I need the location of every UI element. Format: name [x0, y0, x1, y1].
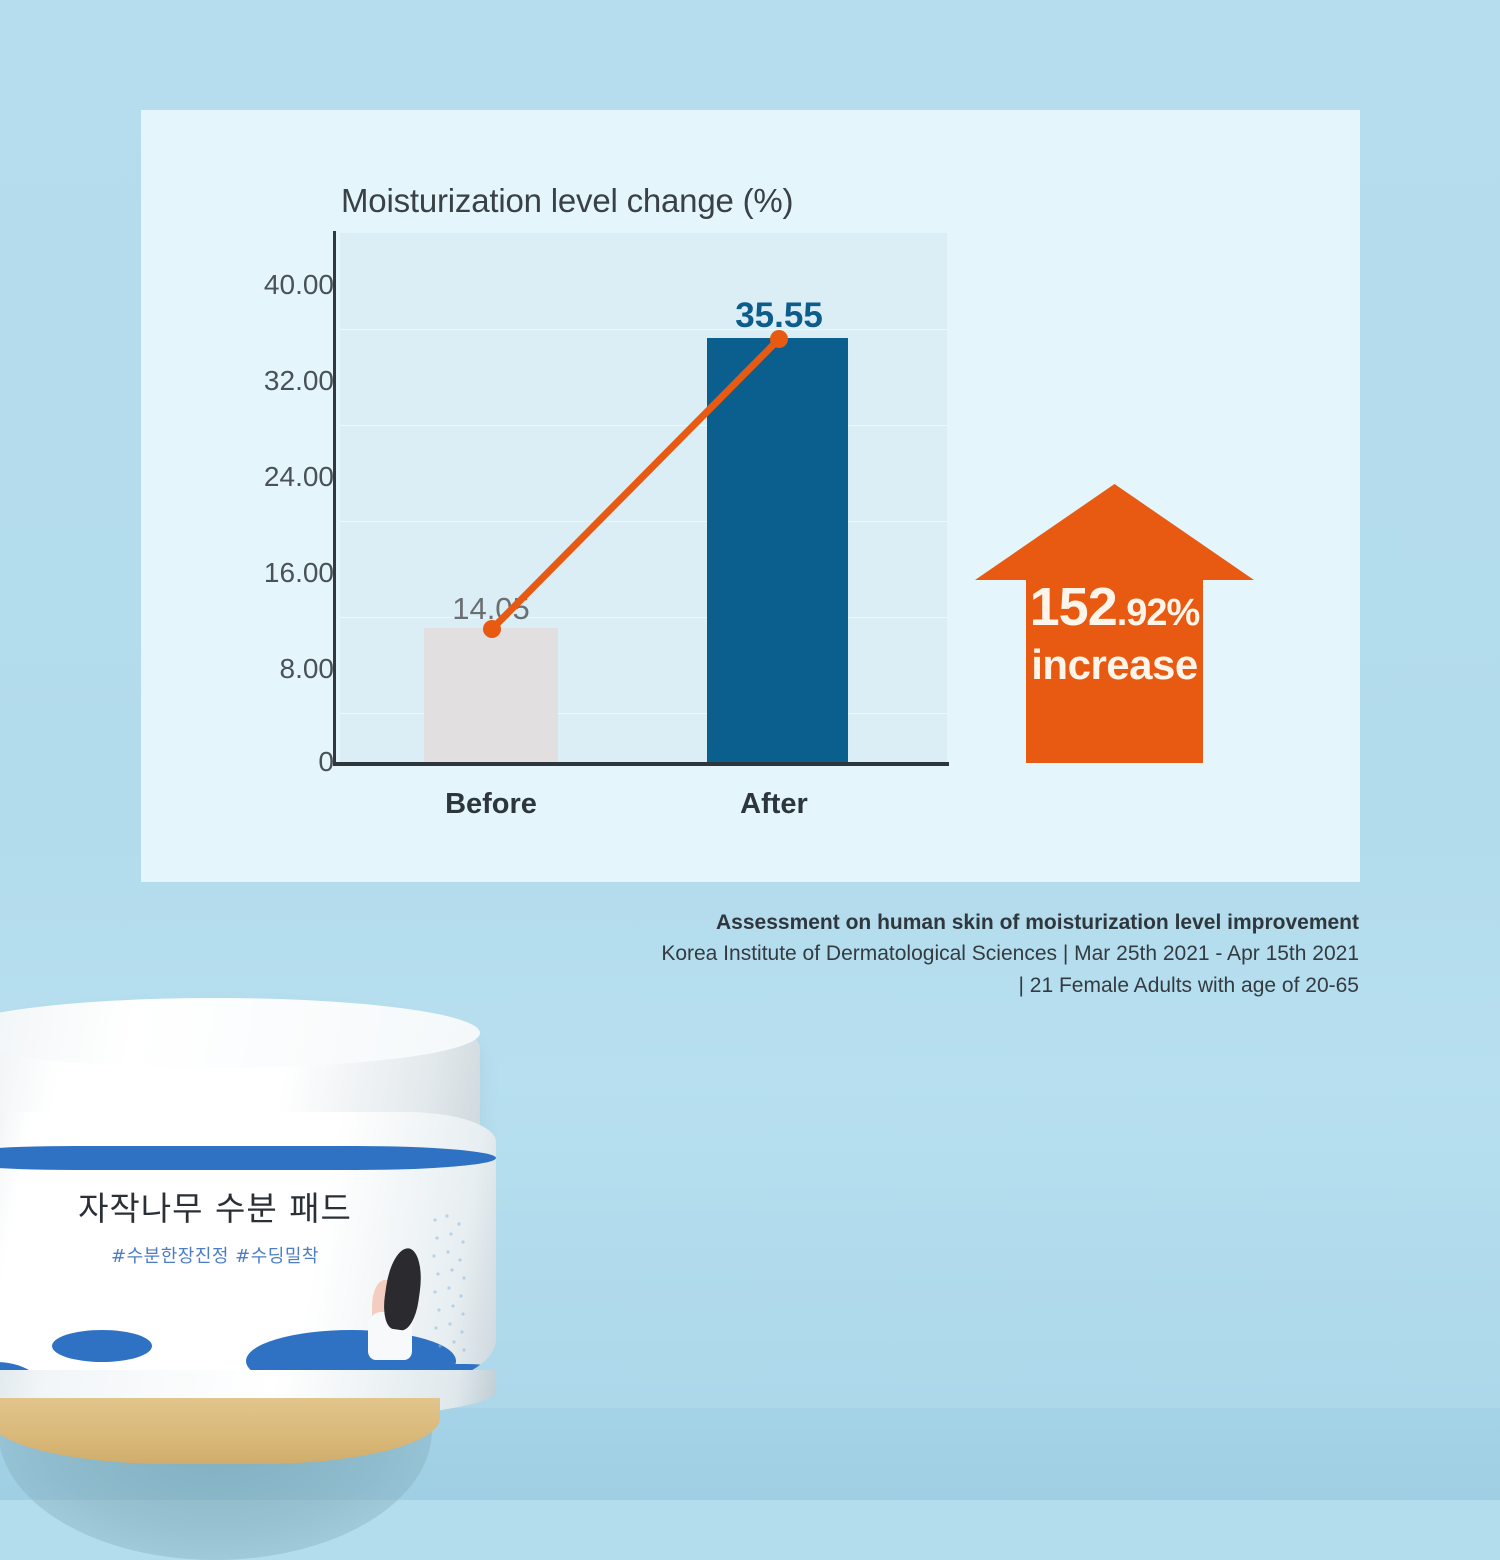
y-tick-label-40: 40.00 [264, 269, 334, 301]
chart-title: Moisturization level change (%) [341, 182, 793, 220]
jar-label-text: 자작나무 수분 패드 #수분한장진정 #수딩밀착 [0, 1182, 496, 1268]
bar-after[interactable] [707, 338, 848, 762]
bar-value-after: 35.55 [735, 296, 823, 336]
jar-graphic-blob [52, 1330, 152, 1362]
y-tick-label-8: 8.00 [280, 653, 335, 685]
gridline [340, 521, 947, 522]
x-axis-line [333, 762, 949, 766]
caption-line-1: Assessment on human skin of moisturizati… [599, 908, 1359, 938]
caption-line-3: | 21 Female Adults with age of 20-65 [599, 970, 1359, 1002]
gridline [340, 617, 947, 618]
jar-product-tags: #수분한장진정 #수딩밀착 [0, 1242, 496, 1268]
product-jar: 자작나무 수분 패드 #수분한장진정 #수딩밀착 [0, 1000, 600, 1430]
jar-body-label: 자작나무 수분 패드 #수분한장진정 #수딩밀착 [0, 1112, 496, 1412]
increase-percent: 152.92% [975, 580, 1254, 634]
category-label-before: Before [445, 788, 537, 821]
bar-value-before: 14.05 [452, 591, 530, 627]
increase-callout: 152.92% increase [975, 484, 1254, 763]
y-tick-label-32: 32.00 [264, 365, 334, 397]
increase-label: increase [975, 644, 1254, 686]
y-tick-label-0: 0 [318, 746, 334, 778]
increase-percent-minor: .92% [1117, 592, 1200, 634]
increase-percent-major: 152 [1030, 577, 1117, 637]
jar-dot-pattern [429, 1212, 469, 1372]
y-tick-label-16: 16.00 [264, 557, 334, 589]
bar-before[interactable] [424, 628, 558, 762]
jar-blue-stripe [0, 1146, 496, 1170]
jar-product-name: 자작나무 수분 패드 [0, 1182, 496, 1230]
increase-text-group: 152.92% increase [975, 580, 1254, 686]
gridline [340, 329, 947, 330]
gridline [340, 425, 947, 426]
category-label-after: After [740, 788, 808, 821]
study-caption: Assessment on human skin of moisturizati… [599, 908, 1359, 1001]
y-tick-label-24: 24.00 [264, 461, 334, 493]
caption-line-2: Korea Institute of Dermatological Scienc… [599, 938, 1359, 970]
